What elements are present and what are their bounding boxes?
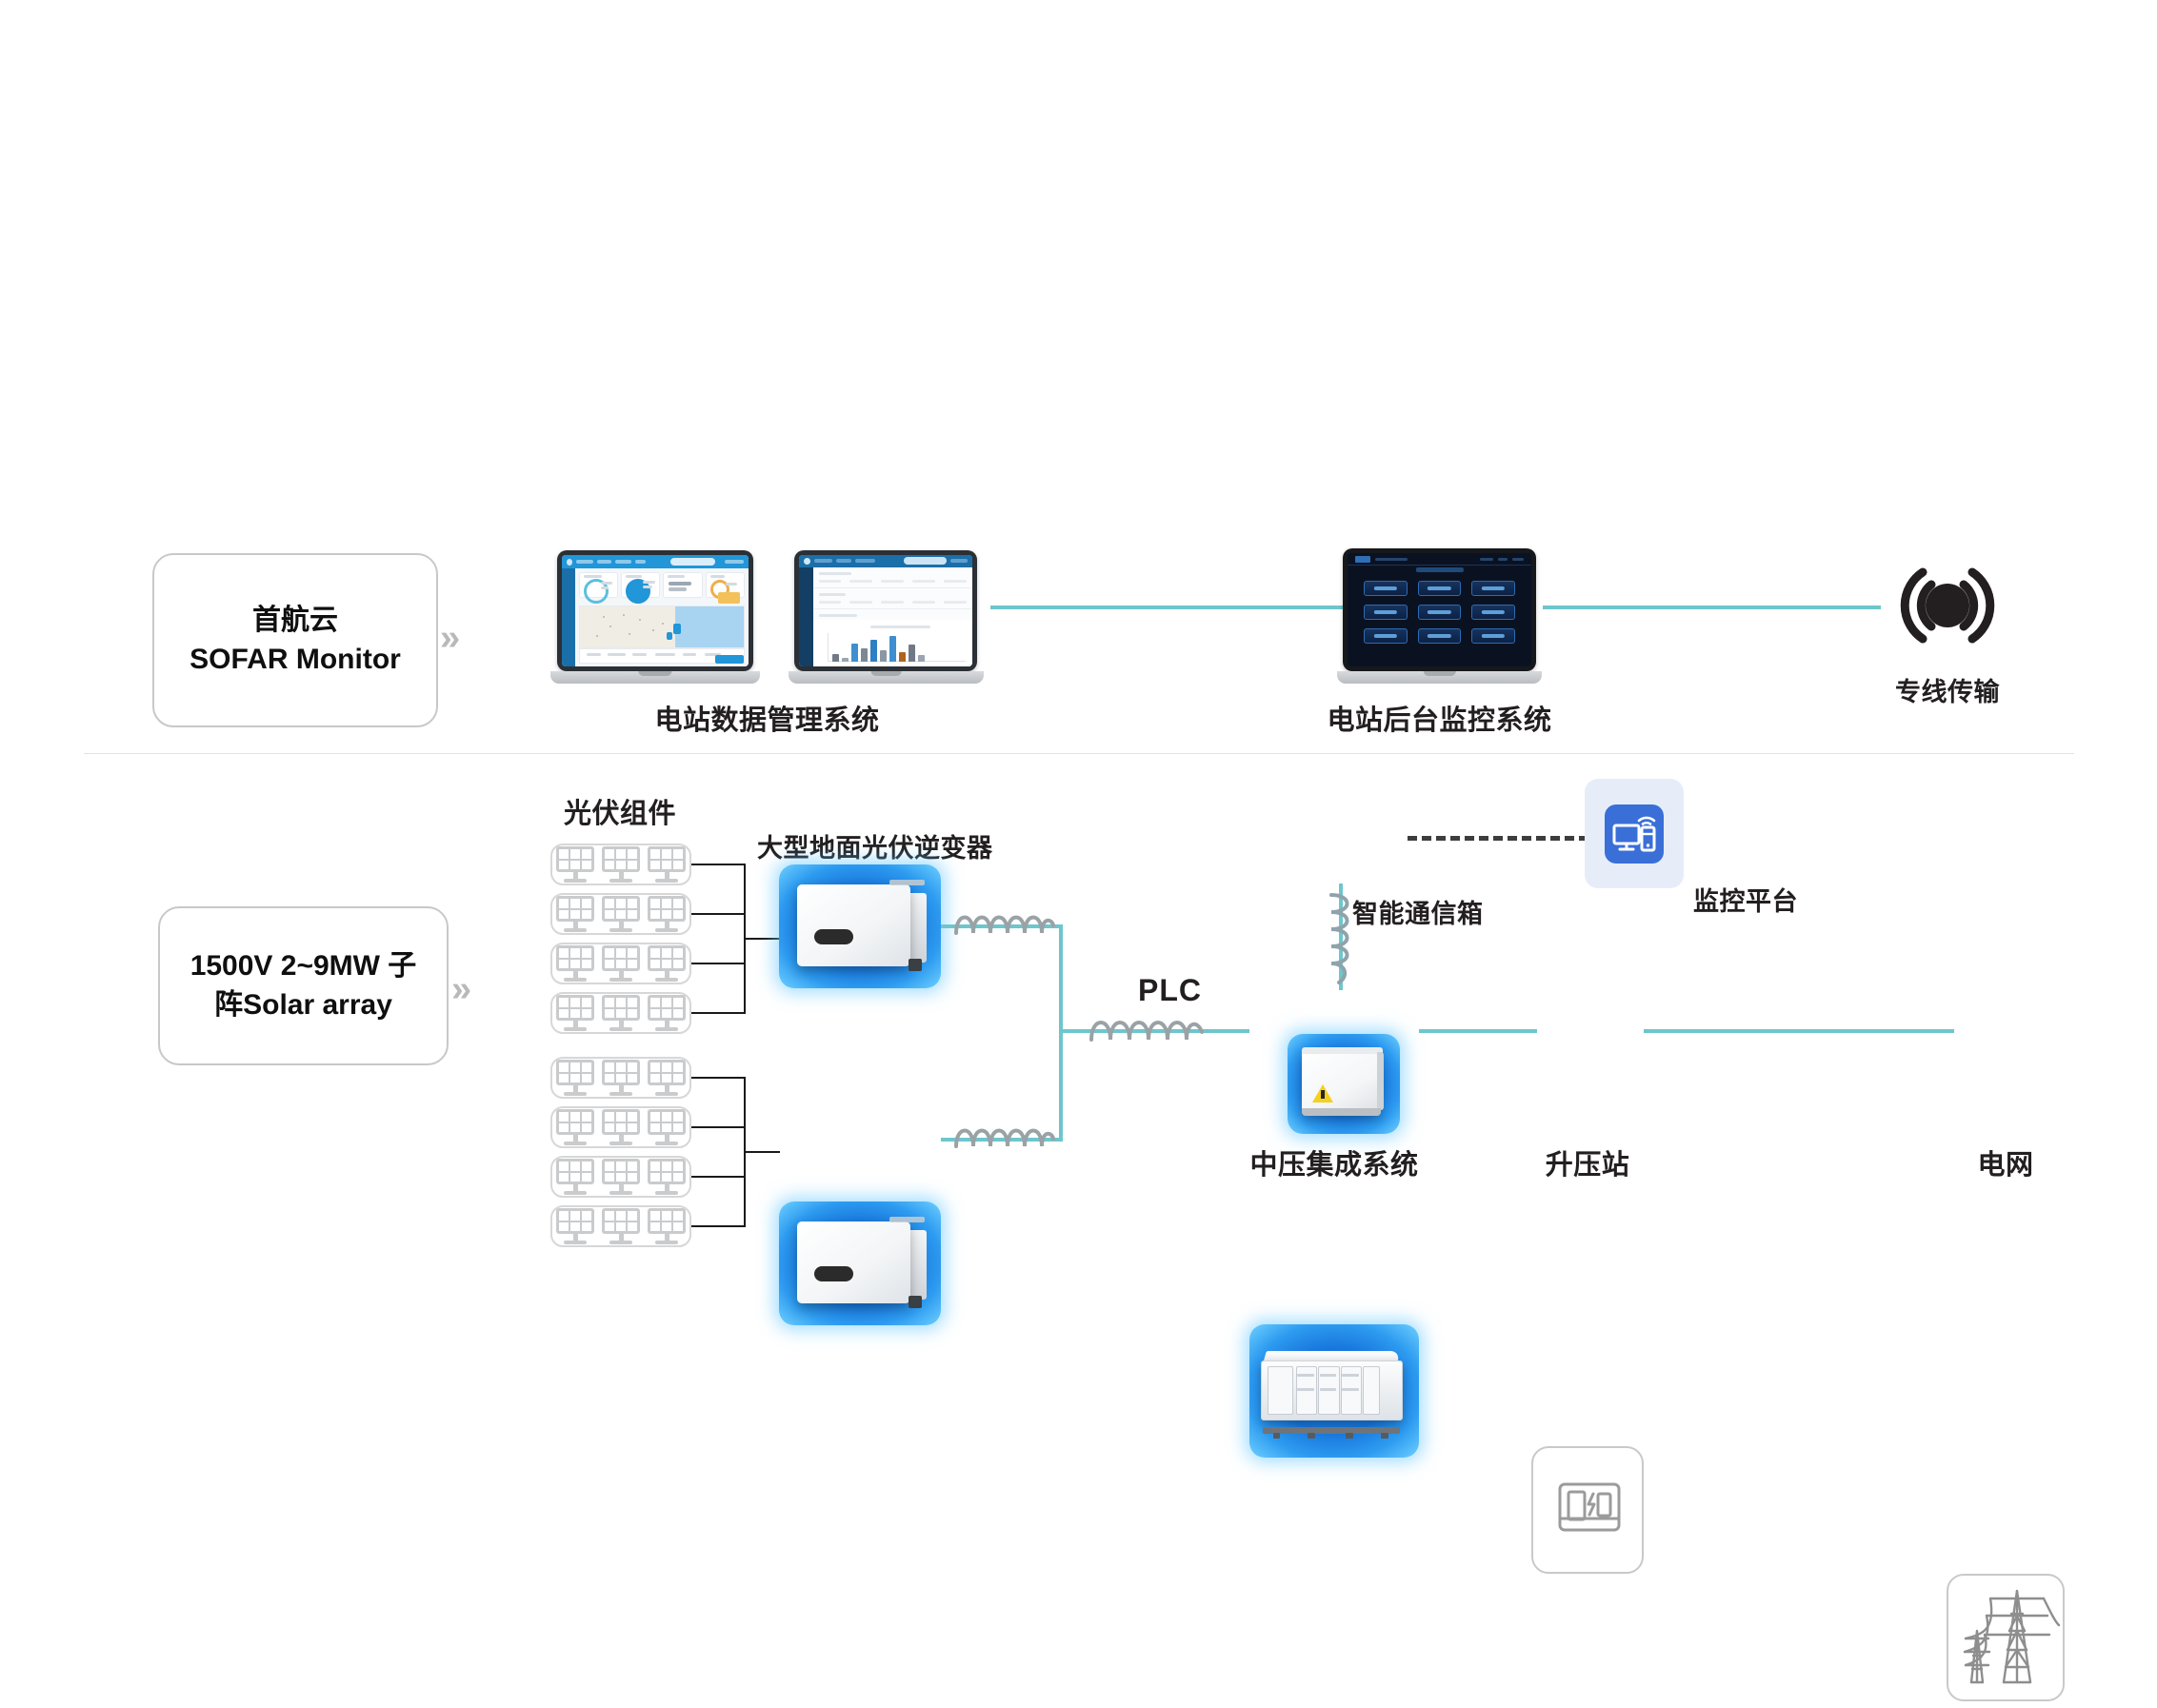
map-marker[interactable] [667, 632, 672, 640]
solar-panel-icon [556, 1208, 594, 1244]
menu-item [576, 560, 593, 564]
pv-lead [691, 1126, 745, 1128]
dark-console-laptop[interactable] [1337, 548, 1542, 684]
inverter-body [797, 884, 910, 966]
solar-panel-icon [602, 1208, 640, 1244]
solar-panel-icon [556, 846, 594, 883]
console-brand-text [1375, 558, 1408, 561]
laptop-screen-frame [1343, 548, 1536, 671]
plant-map[interactable] [579, 606, 745, 648]
chart-y-axis [828, 633, 829, 662]
dashboard-map-laptop[interactable] [550, 550, 760, 684]
solar-panel-icon [602, 1159, 640, 1195]
laptop-notch [1423, 671, 1455, 676]
solar-panel-icon [556, 896, 594, 932]
card-sub [643, 586, 652, 588]
broadcast-signal-icon [1881, 553, 2014, 658]
menu-item [855, 559, 875, 563]
console-tile[interactable] [1364, 628, 1407, 644]
console-tile[interactable] [1418, 628, 1461, 644]
bar-chart [813, 620, 972, 666]
comm-box-top [1302, 1047, 1383, 1054]
label-box-cloud: 首航云SOFAR Monitor [152, 553, 438, 727]
pv-row [550, 844, 691, 885]
caption-inverter: 大型地面光伏逆变器 [757, 827, 995, 864]
label-array-line1: 1500V 2~9MW 子 [190, 950, 417, 982]
laptop-screen-frame [794, 550, 977, 671]
connector-laptops-to-console [990, 606, 1343, 609]
pv-row [550, 943, 691, 984]
solar-panel-icon [556, 1109, 594, 1145]
coil-inverter1-icon [952, 904, 1059, 944]
pv-lead [691, 963, 745, 964]
table-chart-laptop[interactable] [789, 550, 984, 684]
kpi-card [706, 572, 745, 598]
substation-icon [1533, 1448, 1646, 1576]
menu-item [597, 560, 611, 564]
coil-commbox-icon [1318, 891, 1362, 992]
app-topbar [799, 555, 972, 567]
inverter-display-icon [814, 929, 853, 945]
pv-row [550, 1106, 691, 1148]
label-box-cloud-text: 首航云SOFAR Monitor [190, 602, 401, 679]
card-title [584, 575, 602, 578]
comm-box-bottom [1302, 1108, 1381, 1116]
console-status [1498, 558, 1508, 561]
console-screen [1348, 553, 1531, 666]
card-value [643, 581, 655, 584]
transmission-tower-icon [1948, 1576, 2067, 1703]
solar-panel-icon [602, 995, 640, 1031]
account-menu[interactable] [725, 560, 744, 564]
connector-mv-to-substation [1419, 1029, 1537, 1033]
solar-panel-icon [648, 896, 686, 932]
pv-lead [691, 1176, 745, 1178]
inverter-mount [909, 1296, 922, 1308]
menu-item [814, 559, 833, 563]
sparkline [669, 587, 687, 591]
console-tile[interactable] [1418, 605, 1461, 620]
mv-system-unit[interactable] [1249, 1324, 1419, 1458]
pv-lead [691, 913, 745, 915]
caption-grid: 电网 [1947, 1142, 2065, 1182]
console-tile[interactable] [1471, 581, 1514, 596]
app-logo-icon [804, 558, 810, 565]
coil-inverter2-icon [952, 1118, 1059, 1158]
inverter-brand-mark [889, 880, 925, 886]
solar-panel-icon [648, 1109, 686, 1145]
substation-unit[interactable] [1531, 1446, 1644, 1574]
solar-panel-icon [602, 896, 640, 932]
chart-title [870, 626, 931, 628]
solar-panel-icon [556, 995, 594, 1031]
mv-container-icon [1261, 1351, 1407, 1428]
card-value [726, 583, 737, 586]
mv-skid-base [1263, 1427, 1400, 1434]
menu-item [615, 560, 631, 564]
coil-plc-icon [1088, 1009, 1206, 1051]
laptop-notch [638, 671, 671, 676]
inverter-mount [909, 959, 922, 971]
inverter-body [797, 1221, 910, 1303]
pv-lead [691, 1225, 745, 1227]
label-cloud-line1: 首航云 [252, 605, 338, 636]
label-array-line2: 阵Solar array [214, 989, 392, 1021]
app-sidebar [562, 568, 575, 666]
solar-panel-icon [648, 846, 686, 883]
laptop-screen-content [562, 555, 749, 666]
label-box-cloud-chevron-icon: » [440, 620, 454, 656]
solar-panel-icon [648, 945, 686, 982]
console-tile[interactable] [1364, 605, 1407, 620]
diagram-canvas: 首航云SOFAR Monitor » 1500V 2~9MW 子阵Solar a… [0, 0, 2157, 1457]
pv-bus-to-inverter [744, 938, 780, 940]
laptop-base [550, 671, 760, 684]
laptop-screen-content [799, 555, 972, 666]
comm-box-body [1302, 1049, 1381, 1115]
search-field[interactable] [904, 557, 947, 565]
pv-bus-to-inverter [744, 1151, 780, 1153]
solar-panel-icon [602, 945, 640, 982]
monitor-platform-panel[interactable] [1585, 779, 1684, 888]
laptop-notch [870, 671, 902, 676]
laptop-screen-frame [557, 550, 753, 671]
card-value [601, 582, 612, 585]
mv-door [1268, 1366, 1293, 1415]
solar-panel-icon [648, 1208, 686, 1244]
kpi-card [663, 572, 702, 598]
caption-dedicated-line: 专线传输 [1871, 671, 2024, 708]
menu-item [836, 559, 851, 563]
pv-lead [691, 864, 745, 865]
primary-action-button[interactable] [715, 655, 744, 664]
grid-unit[interactable] [1947, 1574, 2065, 1701]
account-menu[interactable] [950, 559, 968, 563]
card-title [710, 575, 726, 578]
pv-row [550, 1205, 691, 1247]
caption-monitor-platform: 监控平台 [1693, 881, 1836, 918]
caption-pv-modules: 光伏组件 [564, 791, 678, 831]
map-water [675, 606, 744, 647]
menu-item [635, 560, 647, 564]
pv-lead [691, 1012, 745, 1014]
kpi-card-row [575, 568, 749, 602]
mv-door [1363, 1366, 1380, 1415]
card-sub [601, 586, 609, 589]
label-box-solar-array: 1500V 2~9MW 子阵Solar array [158, 906, 449, 1065]
monitor-device-icon [1605, 804, 1664, 864]
console-tile[interactable] [1471, 605, 1514, 620]
console-topbar [1348, 553, 1531, 566]
warning-triangle-icon [1312, 1084, 1333, 1102]
console-tile[interactable] [1418, 581, 1461, 596]
laptop-screen-content [1348, 553, 1531, 666]
inverter-brand-mark [889, 1217, 925, 1223]
inverter-display-icon [814, 1266, 853, 1282]
connector-commbox-to-platform [1408, 836, 1588, 841]
comm-box-unit[interactable] [1288, 1034, 1400, 1134]
solar-panel-icon [556, 1060, 594, 1096]
console-status [1512, 558, 1524, 561]
solar-panel-icon [602, 1109, 640, 1145]
label-box-solar-array-text: 1500V 2~9MW 子阵Solar array [190, 947, 417, 1024]
laptop-base [1337, 671, 1542, 684]
solar-panel-icon [556, 1159, 594, 1195]
caption-data-management: 电站数据管理系统 [550, 698, 984, 738]
mv-body [1261, 1360, 1403, 1421]
solar-panel-icon [602, 1060, 640, 1096]
chart-bars [832, 633, 925, 662]
solar-panel-icon [648, 995, 686, 1031]
app-main [575, 568, 749, 666]
solar-panel-icon [602, 846, 640, 883]
console-tile[interactable] [1364, 581, 1407, 596]
console-button-grid [1364, 581, 1514, 645]
map-marker[interactable] [673, 624, 681, 634]
console-logo-icon [1355, 556, 1370, 563]
pv-row [550, 992, 691, 1034]
pv-lead [691, 1077, 745, 1079]
inverter-unit-1[interactable] [779, 864, 941, 988]
console-tile[interactable] [1471, 628, 1514, 644]
pv-row [550, 1156, 691, 1198]
connector-substation-to-grid [1644, 1029, 1954, 1033]
plc-label: PLC [1138, 973, 1202, 1008]
sparkline [669, 582, 691, 586]
table-section [813, 588, 972, 609]
console-page-title [1415, 567, 1463, 572]
filter-section [813, 567, 972, 588]
label-box-solar-array-chevron-icon: » [451, 971, 466, 1007]
solar-panel-icon [648, 1159, 686, 1195]
solar-panel-icon [556, 945, 594, 982]
console-status [1480, 558, 1493, 561]
caption-comm-box: 智能通信箱 [1352, 893, 1533, 930]
signal-core [1926, 584, 1969, 627]
comm-box-edge [1377, 1052, 1384, 1110]
section-divider [84, 753, 2074, 754]
laptop-base [789, 671, 984, 684]
app-topbar [562, 555, 749, 568]
connector-console-to-signal [1543, 606, 1881, 609]
solar-panel-icon [648, 1060, 686, 1096]
caption-mv-system: 中压集成系统 [1249, 1142, 1419, 1182]
app-sidebar [799, 567, 813, 666]
inverter-unit-2[interactable] [779, 1202, 941, 1325]
pv-row [550, 893, 691, 935]
caption-substation: 升压站 [1531, 1142, 1644, 1182]
alert-bar [718, 592, 740, 604]
search-field[interactable] [670, 558, 715, 566]
card-title [668, 575, 684, 578]
label-cloud-line2: SOFAR Monitor [190, 644, 401, 675]
pv-row [550, 1057, 691, 1099]
card-title [626, 575, 642, 578]
kpi-card [579, 572, 618, 598]
caption-backend-monitor: 电站后台监控系统 [1318, 698, 1561, 738]
app-logo-icon [567, 559, 572, 566]
kpi-card [621, 572, 660, 598]
